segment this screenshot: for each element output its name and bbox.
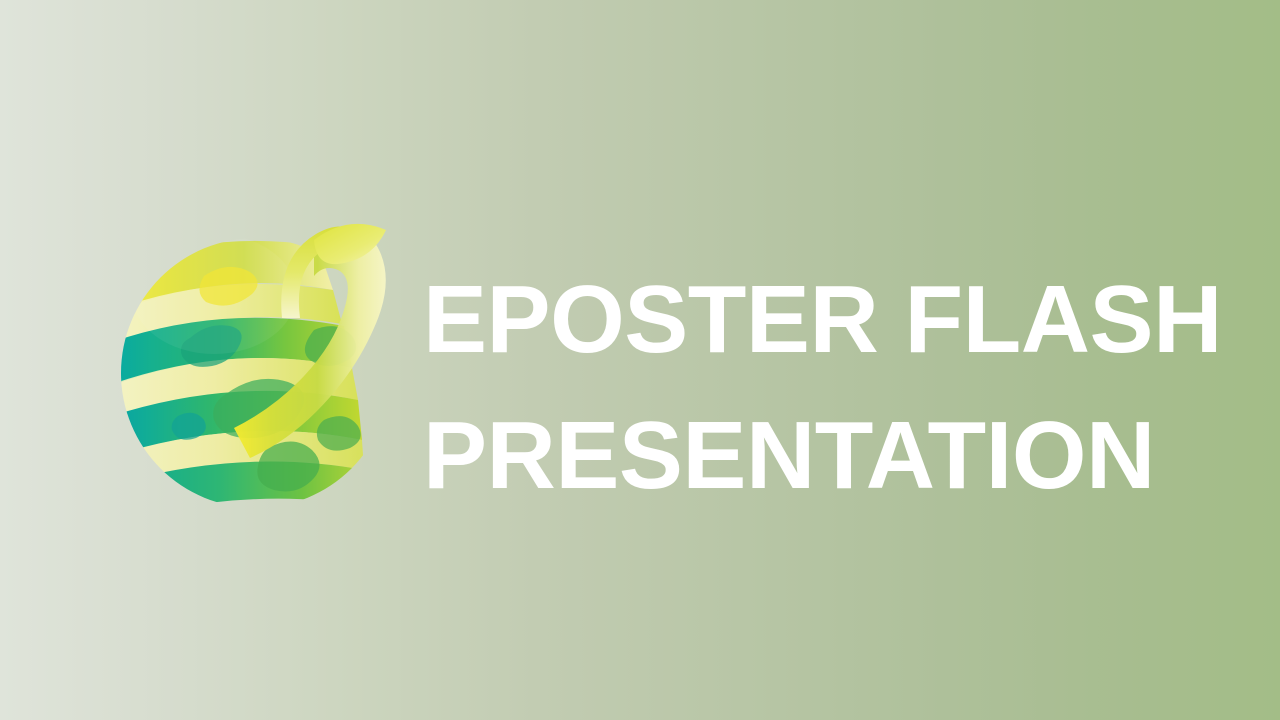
title-line-2: PRESENTATION bbox=[423, 388, 1213, 524]
title-slide: EPOSTER FLASH PRESENTATION bbox=[0, 0, 1280, 720]
page-title: EPOSTER FLASH PRESENTATION bbox=[423, 252, 1213, 524]
globe-ribbon-leaf-logo bbox=[118, 198, 403, 518]
title-line-1: EPOSTER FLASH bbox=[423, 252, 1213, 388]
